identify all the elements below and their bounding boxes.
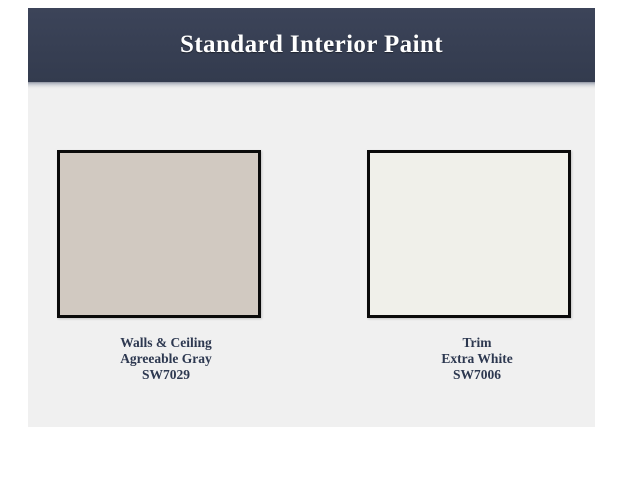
color-swatch-extra-white[interactable]: [367, 150, 571, 318]
banner-bevel-divider: [28, 82, 595, 89]
paint-name-label: Agreeable Gray: [57, 351, 275, 367]
paint-use-label: Walls & Ceiling: [57, 335, 275, 351]
paint-swatch-item-walls-ceiling[interactable]: Walls & Ceiling Agreeable Gray SW7029: [43, 150, 275, 383]
title-banner: Standard Interior Paint: [28, 8, 595, 82]
slide-canvas-root: Standard Interior Paint Walls & Ceiling …: [0, 0, 634, 480]
paint-code-label: SW7029: [57, 367, 275, 383]
color-swatch-agreeable-gray[interactable]: [57, 150, 261, 318]
paint-name-label: Extra White: [367, 351, 587, 367]
paint-swatch-row: Walls & Ceiling Agreeable Gray SW7029 Tr…: [28, 150, 595, 430]
paint-swatch-caption-trim: Trim Extra White SW7006: [355, 335, 587, 383]
page-title: Standard Interior Paint: [180, 31, 443, 59]
paint-swatch-caption-walls-ceiling: Walls & Ceiling Agreeable Gray SW7029: [43, 335, 275, 383]
paint-code-label: SW7006: [367, 367, 587, 383]
paint-use-label: Trim: [367, 335, 587, 351]
paint-swatch-item-trim[interactable]: Trim Extra White SW7006: [355, 150, 587, 383]
